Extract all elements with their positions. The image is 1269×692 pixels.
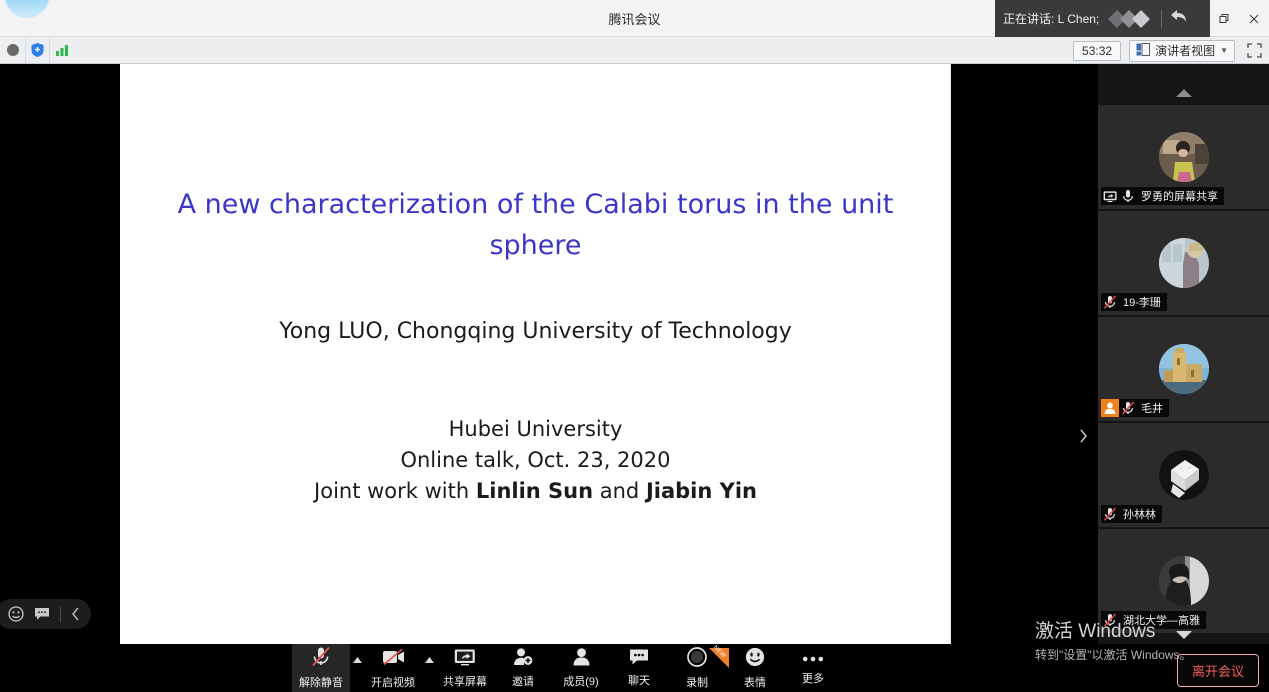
slide-title: A new characterization of the Calabi tor…: [160, 184, 911, 266]
participant-tile[interactable]: 孙林林: [1098, 423, 1269, 529]
avatar: [1159, 238, 1209, 288]
toolbar-button-camera-off[interactable]: 开启视频: [364, 644, 422, 692]
toolbar-button-label: 开启视频: [371, 674, 415, 690]
smiley-icon: [745, 647, 765, 672]
slide-line-date: Online talk, Oct. 23, 2020: [160, 445, 911, 476]
divider: [60, 606, 61, 622]
toolbar-button-invite-person[interactable]: 邀请: [494, 644, 552, 692]
participant-sidebar: 罗勇的屏幕共享19-李珊毛井孙林林湖北大学—高雅: [1098, 64, 1269, 692]
avatar: [1159, 556, 1209, 606]
toolbar-button-label: 成员(9): [563, 673, 598, 689]
toolbar-caret-mic-muted[interactable]: [350, 644, 364, 692]
participant-tile[interactable]: 罗勇的屏幕共享: [1098, 105, 1269, 211]
participant-label: 19-李珊: [1101, 293, 1167, 311]
participant-tiles: 罗勇的屏幕共享19-李珊毛井孙林林湖北大学—高雅: [1098, 105, 1269, 645]
close-icon[interactable]: [1239, 0, 1269, 37]
toolbar-button-label: 聊天: [628, 672, 650, 688]
participant-tile[interactable]: 毛井: [1098, 317, 1269, 423]
avatar: [1159, 132, 1209, 182]
participant-name: 毛井: [1137, 400, 1163, 416]
mic-on-small-icon: [1119, 187, 1137, 205]
leave-meeting-button[interactable]: 离开会议: [1177, 654, 1259, 687]
emoji-icon[interactable]: [8, 606, 24, 622]
avatar: [1159, 344, 1209, 394]
more-dots-icon: [802, 650, 824, 668]
browser-status-bar: 53:32 演讲者视图 ▼: [0, 37, 1269, 64]
signal-bars-icon[interactable]: [50, 38, 75, 63]
participant-label: 毛井: [1101, 399, 1169, 417]
toolbar-button-label: 解除静音: [299, 674, 343, 690]
slide-line-coauthors: Joint work with Linlin Sun and Jiabin Yi…: [160, 476, 911, 507]
mic-muted-small-icon: [1101, 505, 1119, 523]
screen-share-icon: [454, 648, 476, 671]
chevron-left-icon[interactable]: [71, 607, 81, 621]
screen-share-small-icon: [1101, 187, 1119, 205]
view-mode-label: 演讲者视图: [1155, 44, 1215, 58]
shared-screen-stage: A new characterization of the Calabi tor…: [0, 64, 1269, 692]
back-arrow-icon[interactable]: [1170, 8, 1188, 29]
slide-author: Yong LUO, Chongqing University of Techno…: [160, 319, 911, 344]
status-bar-left: [0, 38, 75, 63]
mic-muted-small-icon: [1101, 293, 1119, 311]
meeting-toolbar: 解除静音开启视频共享屏幕邀请成员(9)聊天录制NEW表情更多 离开会议: [0, 644, 1269, 692]
speaking-label: 正在讲话: L Chen;: [1003, 10, 1099, 27]
joint-work-prefix: Joint work with: [314, 479, 476, 503]
avatar: [1159, 450, 1209, 500]
participant-label: 罗勇的屏幕共享: [1101, 187, 1224, 205]
restore-icon[interactable]: [1209, 0, 1239, 37]
view-mode-dropdown[interactable]: 演讲者视图 ▼: [1129, 40, 1235, 62]
meeting-window: 52:47 腾讯会议 正在讲话: L Chen;: [0, 0, 1269, 692]
toolbar-button-label: 邀请: [512, 673, 534, 689]
slide-details: Hubei University Online talk, Oct. 23, 2…: [160, 414, 911, 507]
divider: [1161, 10, 1162, 28]
fullscreen-icon[interactable]: [1243, 41, 1265, 61]
speaking-indicator[interactable]: 正在讲话: L Chen;: [995, 0, 1210, 37]
presentation-slide: A new characterization of the Calabi tor…: [120, 64, 951, 644]
members-icon: [572, 647, 591, 671]
host-badge-icon: [1101, 399, 1119, 417]
status-bar-right: 53:32 演讲者视图 ▼: [1073, 37, 1265, 64]
participant-tile[interactable]: 19-李珊: [1098, 211, 1269, 317]
toolbar-button-label: 表情: [744, 674, 766, 690]
participant-name: 孙林林: [1119, 506, 1156, 522]
shield-icon[interactable]: [25, 38, 50, 63]
chevron-right-icon[interactable]: [1072, 416, 1094, 456]
chat-bubble-icon: [629, 648, 649, 670]
mic-muted-small-icon: [1119, 399, 1137, 417]
toolbar-items: 解除静音开启视频共享屏幕邀请成员(9)聊天录制NEW表情更多: [292, 644, 842, 692]
invite-person-icon: [513, 647, 533, 671]
layout-icon: [1136, 43, 1150, 59]
coauthor-2: Jiabin Yin: [646, 479, 757, 503]
participant-name: 罗勇的屏幕共享: [1137, 188, 1218, 204]
participant-label: 孙林林: [1101, 505, 1162, 523]
toolbar-button-screen-share[interactable]: 共享屏幕: [436, 644, 494, 692]
floating-mini-controls[interactable]: [0, 599, 91, 629]
toolbar-caret-camera-off[interactable]: [422, 644, 436, 692]
chevron-down-icon: ▼: [1220, 44, 1228, 58]
record-icon: [687, 647, 707, 672]
tencent-meeting-logo-icon: [1107, 8, 1153, 30]
toolbar-button-chat-bubble[interactable]: 聊天: [610, 644, 668, 692]
toolbar-button-more-dots[interactable]: 更多: [784, 644, 842, 692]
toolbar-button-label: 共享屏幕: [443, 673, 487, 689]
triangle-down-icon[interactable]: [1098, 624, 1269, 646]
mic-muted-icon: [310, 646, 332, 672]
toolbar-button-smiley[interactable]: 表情: [726, 644, 784, 692]
participant-tile[interactable]: 湖北大学—高雅: [1098, 529, 1269, 635]
window-title-bar: 52:47 腾讯会议 正在讲话: L Chen;: [0, 0, 1269, 37]
toolbar-button-mic-muted[interactable]: 解除静音: [292, 644, 350, 692]
toolbar-button-members[interactable]: 成员(9): [552, 644, 610, 692]
slide-line-university: Hubei University: [160, 414, 911, 445]
toolbar-button-label: 更多: [802, 670, 824, 686]
toolbar-button-record[interactable]: 录制NEW: [668, 644, 726, 692]
page-circle-icon[interactable]: [0, 38, 25, 63]
triangle-up-icon[interactable]: [1098, 82, 1269, 104]
coauthor-1: Linlin Sun: [476, 479, 593, 503]
toolbar-button-label: 录制: [686, 674, 708, 690]
joint-work-middle: and: [593, 479, 646, 503]
participant-name: 19-李珊: [1119, 294, 1161, 310]
meeting-timer: 53:32: [1073, 41, 1121, 61]
camera-off-icon: [382, 647, 405, 672]
chat-icon[interactable]: [34, 607, 50, 621]
